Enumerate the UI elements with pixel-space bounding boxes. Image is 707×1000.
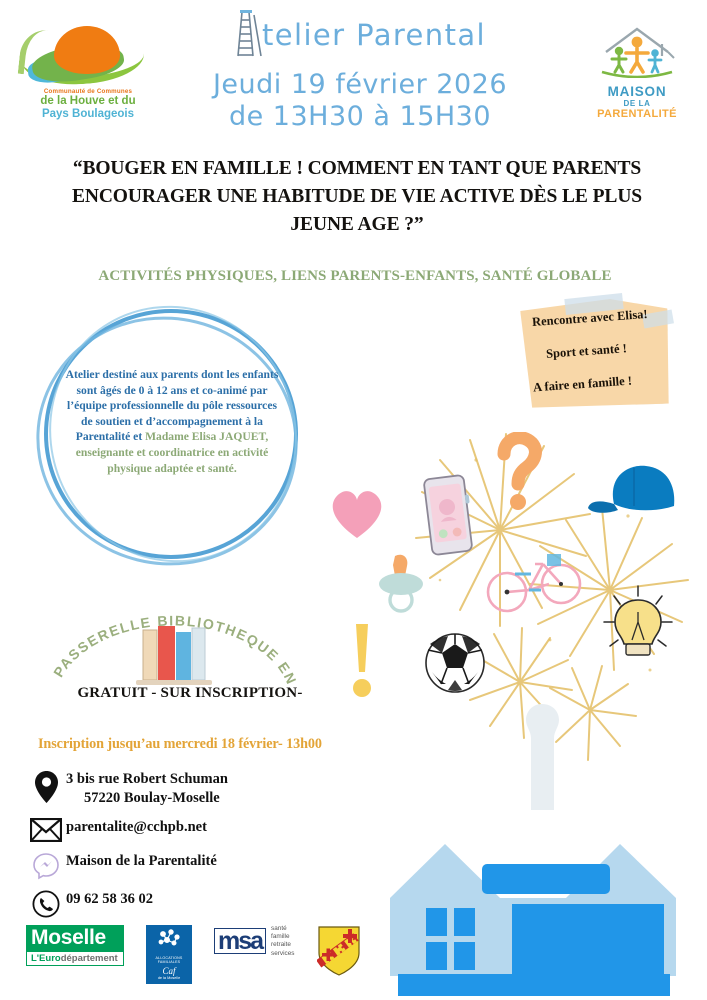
communaute-de-communes-logo: Communauté de Communes de la Houve et du… — [18, 24, 158, 120]
lightbulb-icon — [598, 582, 678, 666]
msa-words: santé famille retraite services — [271, 925, 294, 958]
event-date: Jeudi 19 février 2026 — [170, 69, 550, 100]
passerelle-bibliotheque-logo: PASSERELLE BIBLIOTHEQUE ENFANTS — [48, 596, 298, 692]
poster: Communauté de Communes de la Houve et du… — [0, 0, 707, 1000]
mp-logo-line1: MAISON — [585, 84, 689, 99]
contact-row-phone[interactable]: 09 62 58 36 02 — [26, 888, 386, 918]
cc-logo-line3: Pays Boulageois — [18, 108, 158, 121]
caf-logo: ALLOCATIONS FAMILIALES Caf de la Moselle — [146, 925, 192, 984]
soccer-ball-icon — [424, 632, 486, 694]
phone-text[interactable]: 09 62 58 36 02 — [66, 888, 153, 909]
contact-row-messenger[interactable]: Maison de la Parentalité — [26, 850, 386, 880]
orange-question-mark-icon — [490, 432, 546, 514]
blue-house-toolbox-icon — [370, 786, 690, 1000]
caf-snowflake-icon — [155, 928, 183, 950]
smartphone-icon — [420, 473, 476, 557]
subtitle: ACTIVITÉS PHYSIQUES, LIENS PARENTS-ENFAN… — [40, 268, 670, 285]
lorraine-coat-of-arms-icon — [317, 925, 361, 977]
registration-deadline: Inscription jusqu’au mercredi 18 février… — [38, 736, 322, 753]
pink-heart-icon — [326, 485, 388, 541]
pacifier-icon — [375, 552, 429, 618]
msa-mark: msa — [214, 928, 266, 954]
headline: “BOUGER EN FAMILLE ! COMMENT EN TANT QUE… — [62, 155, 652, 239]
contact-row-email[interactable]: parentalite@cchpb.net — [26, 816, 386, 842]
cc-logo-line2: de la Houve et du — [18, 95, 158, 108]
page-title: telier Parental — [234, 18, 486, 52]
mp-logo-line2: DE LA — [585, 99, 689, 108]
circle-text-block: Atelier destiné aux parents dont les enf… — [60, 367, 284, 476]
address-text: 3 bis rue Robert Schuman 57220 Boulay-Mo… — [66, 768, 228, 808]
phone-icon — [26, 888, 66, 918]
msa-word-sante: santé — [271, 925, 294, 933]
msa-word-famille: famille — [271, 933, 294, 941]
info-circle: Atelier destiné aux parents dont les enf… — [34, 303, 312, 575]
caf-line1: ALLOCATIONS FAMILIALES — [148, 956, 190, 965]
address-line-1: 3 bis rue Robert Schuman — [66, 771, 228, 787]
envelope-icon — [26, 816, 66, 842]
passerelle-arc-text: PASSERELLE BIBLIOTHEQUE ENFANTS — [48, 596, 298, 692]
messenger-text[interactable]: Maison de la Parentalité — [66, 850, 217, 871]
caf-line3: de la Moselle — [148, 976, 190, 980]
location-pin-icon — [26, 768, 66, 804]
contact-row-address: 3 bis rue Robert Schuman 57220 Boulay-Mo… — [26, 768, 386, 808]
contact-block: 3 bis rue Robert Schuman 57220 Boulay-Mo… — [26, 768, 386, 926]
maison-parentalite-logo: MAISON DE LA PARENTALITÉ — [585, 22, 689, 120]
pink-bicycle-icon — [485, 540, 585, 618]
page-title-text: telier Parental — [262, 18, 486, 52]
footer-logos: Moselle L'Eurodépartement ALLOCATIONS FA… — [26, 925, 361, 984]
books-illustration — [136, 626, 212, 685]
poster-header: Communauté de Communes de la Houve et du… — [0, 0, 707, 150]
msa-word-retraite: retraite — [271, 941, 294, 949]
golden-fireworks-icon — [380, 420, 700, 770]
free-registration-note: GRATUIT - SUR INSCRIPTION- — [30, 685, 350, 702]
moselle-tagline-bold: L'Euro — [31, 953, 61, 964]
cc-logo-line1: Communauté de Communes — [18, 88, 158, 95]
moselle-tagline: L'Eurodépartement — [26, 952, 124, 966]
cc-logo-mark — [18, 24, 146, 86]
msa-logo: msa santé famille retraite services — [214, 925, 295, 958]
address-line-2: 57220 Boulay-Moselle — [66, 789, 228, 808]
msa-word-services: services — [271, 950, 294, 958]
wrench-icon — [498, 700, 588, 820]
ladder-icon — [234, 6, 264, 65]
moselle-tagline-rest: département — [61, 953, 118, 964]
moselle-name: Moselle — [26, 925, 124, 952]
house-family-icon — [592, 22, 682, 78]
mp-logo-line3: PARENTALITÉ — [585, 108, 689, 120]
email-text[interactable]: parentalite@cchpb.net — [66, 816, 207, 837]
messenger-icon — [26, 850, 66, 880]
caf-line2: Caf — [148, 966, 190, 976]
title-block: telier Parental Jeudi 19 février 2026 de… — [170, 18, 550, 132]
moselle-logo: Moselle L'Eurodépartement — [26, 925, 124, 966]
blue-cap-icon — [586, 460, 682, 526]
event-time: de 13H30 à 15H30 — [170, 101, 550, 132]
